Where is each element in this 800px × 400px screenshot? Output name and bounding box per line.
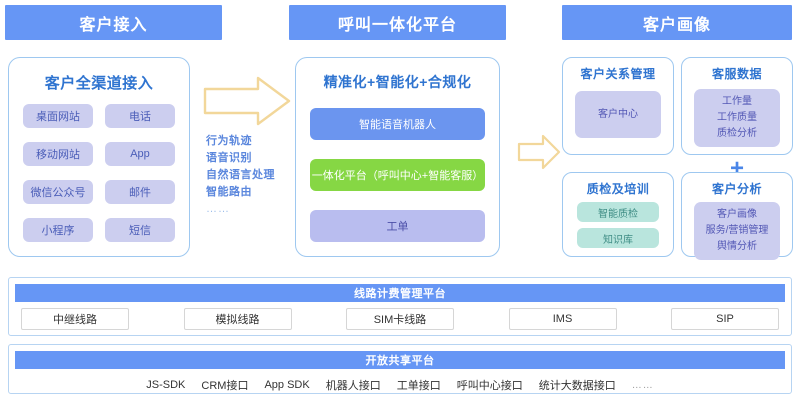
card-title-customer-analysis: 客户分析: [682, 180, 792, 197]
card-crm[interactable]: 客户关系管理 客户中心: [562, 57, 674, 155]
card-body-crm: 客户中心: [575, 91, 661, 138]
card-body-customer-analysis: 客户画像 服务/营销管理 舆情分析: [694, 202, 780, 260]
mid-note-ellipsis: ……: [206, 201, 275, 218]
service-data-item-work-quality: 工作质量: [694, 110, 780, 126]
mid-note-behavior-track: 行为轨迹: [206, 133, 275, 150]
card-body-quality-training: 智能质检 知识库: [577, 202, 659, 248]
column-header-integrated-call-platform: 呼叫一体化平台: [289, 5, 506, 40]
column-header-customer-profile: 客户画像: [562, 5, 792, 40]
line-chip-sim-card[interactable]: SIM卡线路: [346, 308, 454, 330]
service-data-item-qa-analysis: 质检分析: [694, 126, 780, 142]
line-chip-analog[interactable]: 模拟线路: [184, 308, 292, 330]
panel-title-omnichannel: 客户全渠道接入: [9, 72, 189, 93]
panel-omnichannel-access: 客户全渠道接入 桌面网站 电话 移动网站 App 微信公众号 邮件 小程序 短信: [8, 57, 190, 257]
channel-grid: 桌面网站 电话 移动网站 App 微信公众号 邮件 小程序 短信: [23, 104, 175, 242]
channel-chip-mini-program[interactable]: 小程序: [23, 218, 93, 242]
api-item-robot[interactable]: 机器人接口: [326, 377, 381, 393]
card-title-service-data: 客服数据: [682, 65, 792, 82]
module-integrated-platform[interactable]: 一体化平台（呼叫中心+智能客服）: [310, 159, 485, 191]
platform-module-stack: 智能语音机器人 一体化平台（呼叫中心+智能客服） 工单: [310, 108, 485, 242]
channel-chip-wechat-official[interactable]: 微信公众号: [23, 180, 93, 204]
channel-chip-mobile-site[interactable]: 移动网站: [23, 142, 93, 166]
platform-title-line-billing: 线路计费管理平台: [15, 284, 785, 302]
card-title-crm: 客户关系管理: [563, 65, 673, 82]
api-ellipsis: ……: [632, 380, 654, 391]
card-body-service-data: 工作量 工作质量 质检分析: [694, 89, 780, 147]
card-service-data[interactable]: 客服数据 工作量 工作质量 质检分析: [681, 57, 793, 155]
api-item-app-sdk[interactable]: App SDK: [264, 379, 309, 391]
arrow-right-access-to-platform: [203, 75, 291, 127]
card-customer-analysis[interactable]: 客户分析 客户画像 服务/营销管理 舆情分析: [681, 172, 793, 257]
arrow-right-platform-to-profile: [517, 133, 561, 171]
service-data-item-workload: 工作量: [694, 94, 780, 110]
panel-title-precision-intelligent-compliant: 精准化+智能化+合规化: [296, 72, 499, 92]
quality-item-smart-qa[interactable]: 智能质检: [577, 202, 659, 222]
platform-title-open-sharing: 开放共享平台: [15, 351, 785, 369]
quality-item-knowledge-base[interactable]: 知识库: [577, 228, 659, 248]
platform-line-billing: 线路计费管理平台 中继线路 模拟线路 SIM卡线路 IMS SIP: [8, 277, 792, 336]
analysis-item-customer-profile: 客户画像: [694, 207, 780, 223]
module-work-order[interactable]: 工单: [310, 210, 485, 242]
card-title-quality-training: 质检及培训: [563, 180, 673, 197]
platform-open-sharing: 开放共享平台 JS-SDK CRM接口 App SDK 机器人接口 工单接口 呼…: [8, 344, 792, 394]
analysis-item-service-marketing: 服务/营销管理: [694, 223, 780, 239]
mid-note-speech-recognition: 语音识别: [206, 150, 275, 167]
card-quality-training[interactable]: 质检及培训 智能质检 知识库: [562, 172, 674, 257]
api-list: JS-SDK CRM接口 App SDK 机器人接口 工单接口 呼叫中心接口 统…: [9, 377, 791, 393]
channel-chip-email[interactable]: 邮件: [105, 180, 175, 204]
mid-notes-capabilities: 行为轨迹 语音识别 自然语言处理 智能路由 ……: [206, 133, 275, 218]
api-item-bigdata-stats[interactable]: 统计大数据接口: [539, 377, 616, 393]
channel-chip-phone[interactable]: 电话: [105, 104, 175, 128]
panel-integrated-platform: 精准化+智能化+合规化 智能语音机器人 一体化平台（呼叫中心+智能客服） 工单: [295, 57, 500, 257]
crm-item-customer-center: 客户中心: [575, 107, 661, 122]
line-chip-trunk[interactable]: 中继线路: [21, 308, 129, 330]
analysis-item-sentiment: 舆情分析: [694, 239, 780, 255]
line-chip-ims[interactable]: IMS: [509, 308, 617, 330]
mid-note-smart-routing: 智能路由: [206, 184, 275, 201]
line-chip-row: 中继线路 模拟线路 SIM卡线路 IMS SIP: [21, 308, 779, 330]
column-header-customer-access: 客户接入: [5, 5, 222, 40]
api-item-call-center[interactable]: 呼叫中心接口: [457, 377, 523, 393]
diagram-canvas: 客户接入 客户全渠道接入 桌面网站 电话 移动网站 App 微信公众号 邮件 小…: [0, 0, 800, 400]
mid-note-nlp: 自然语言处理: [206, 167, 275, 184]
api-item-js-sdk[interactable]: JS-SDK: [146, 379, 185, 391]
channel-chip-app[interactable]: App: [105, 142, 175, 166]
line-chip-sip[interactable]: SIP: [671, 308, 779, 330]
channel-chip-desktop-site[interactable]: 桌面网站: [23, 104, 93, 128]
api-item-crm[interactable]: CRM接口: [201, 377, 248, 393]
module-smart-voice-robot[interactable]: 智能语音机器人: [310, 108, 485, 140]
channel-chip-sms[interactable]: 短信: [105, 218, 175, 242]
api-item-work-order[interactable]: 工单接口: [397, 377, 441, 393]
